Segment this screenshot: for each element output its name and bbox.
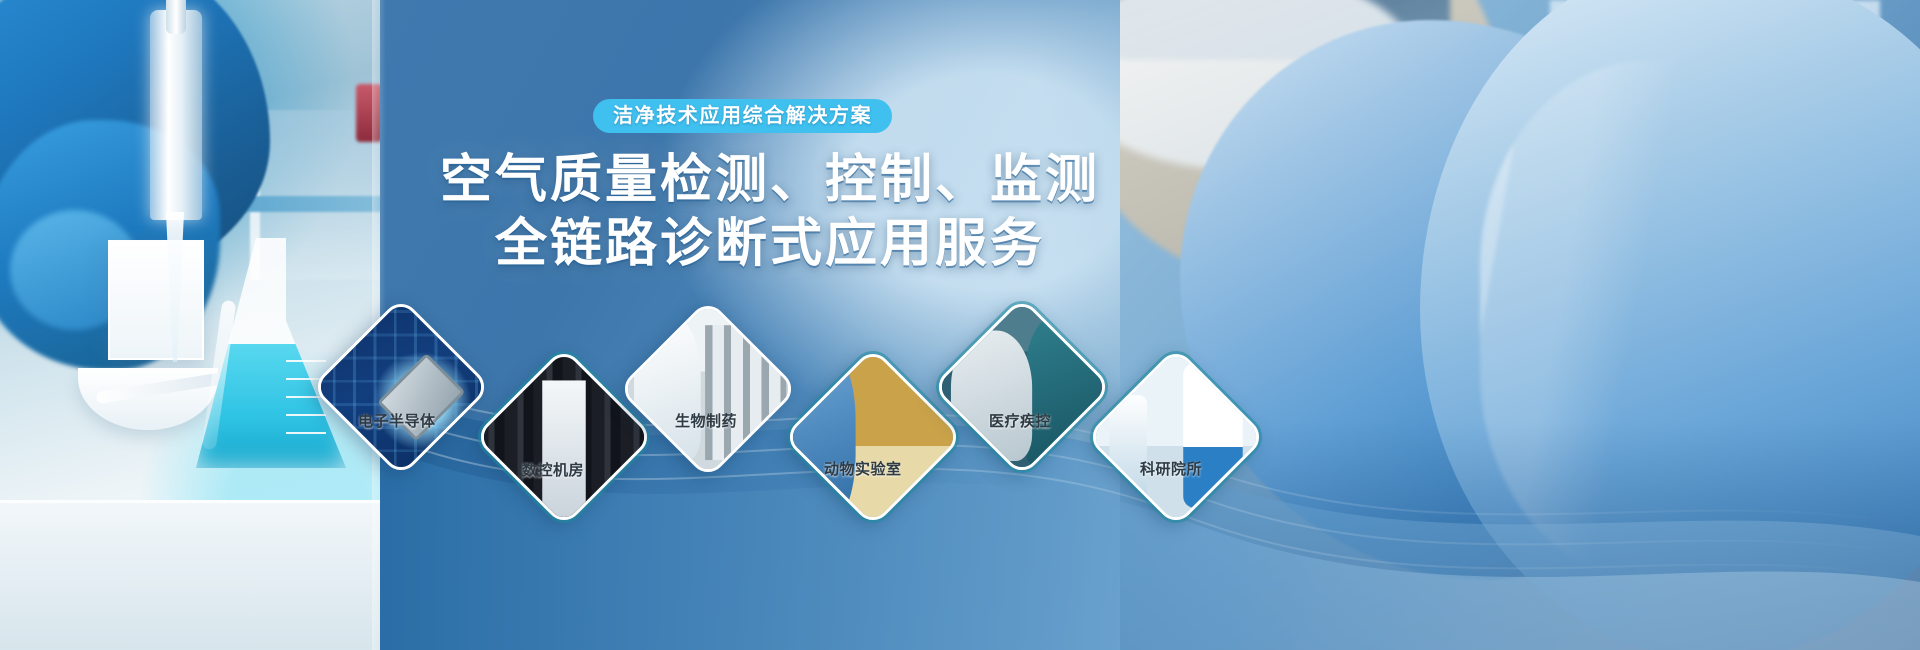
industry-card-datacenter[interactable] <box>473 346 654 527</box>
industry-card-animal-lab[interactable] <box>782 346 963 527</box>
industry-card-label-electronics[interactable]: 电子半导体 <box>358 410 436 431</box>
industry-card-row: 电子半导体 数控机房 生物制药 动物实验室 医疗疾控 科研院所 <box>0 0 1920 650</box>
industry-card-label-pharma[interactable]: 生物制药 <box>675 410 737 431</box>
industry-card-research[interactable] <box>1085 346 1266 527</box>
industry-card-label-animal-lab[interactable]: 动物实验室 <box>824 458 902 479</box>
industry-card-electronics[interactable] <box>310 296 491 477</box>
industry-card-label-datacenter[interactable]: 数控机房 <box>522 459 584 480</box>
industry-card-label-medical[interactable]: 医疗疾控 <box>989 410 1051 431</box>
research-lab-icon <box>1088 349 1265 526</box>
industry-card-pharma[interactable] <box>617 298 798 479</box>
server-rack-icon <box>476 349 653 526</box>
pharma-plant-icon <box>620 301 797 478</box>
circuit-board-icon <box>313 299 490 476</box>
medical-surgery-icon <box>934 299 1111 476</box>
industry-card-label-research[interactable]: 科研院所 <box>1140 458 1202 479</box>
animal-lab-icon <box>785 349 962 526</box>
industry-card-medical[interactable] <box>931 296 1112 477</box>
hero-banner: 洁净技术应用综合解决方案 空气质量检测、控制、监测 全链路诊断式应用服务 电子半… <box>0 0 1920 650</box>
